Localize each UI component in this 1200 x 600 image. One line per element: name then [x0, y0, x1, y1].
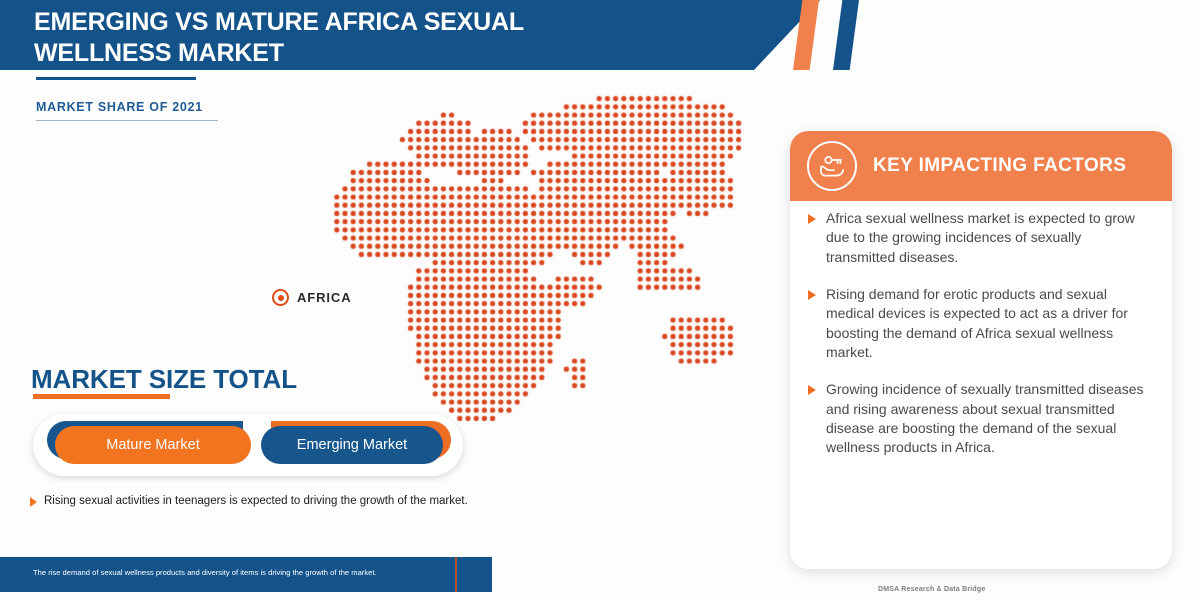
footer-text: The rise demand of sexual wellness produ…	[33, 568, 433, 578]
dotted-world-map	[300, 70, 770, 450]
market-size-note-text: Rising sexual activities in teenagers is…	[44, 493, 468, 510]
list-item-text: Africa sexual wellness market is expecte…	[826, 209, 1150, 267]
target-circle-icon	[272, 289, 289, 306]
header-stripe-blue	[833, 0, 859, 70]
market-share-label: MARKET SHARE OF 2021	[36, 100, 203, 114]
triangle-bullet-icon	[808, 385, 816, 395]
triangle-bullet-icon	[808, 290, 816, 300]
list-item: Growing incidence of sexually transmitte…	[808, 380, 1150, 457]
page-title: EMERGING VS MATURE AFRICA SEXUAL WELLNES…	[34, 7, 644, 68]
market-size-title: MARKET SIZE TOTAL	[31, 364, 297, 395]
segment-mature-label: Mature Market	[55, 426, 251, 464]
hand-holding-key-icon	[807, 141, 857, 191]
source-note: DMSA Research & Data Bridge	[878, 586, 985, 593]
target-circle-center	[278, 295, 284, 301]
infographic-root: EMERGING VS MATURE AFRICA SEXUAL WELLNES…	[0, 0, 1200, 600]
segment-emerging-label: Emerging Market	[261, 426, 443, 464]
market-share-rule-bottom	[36, 120, 218, 121]
market-size-pill-tray: Mature Market Emerging Market	[33, 414, 463, 476]
segment-emerging-market[interactable]: Emerging Market	[261, 426, 443, 464]
triangle-bullet-icon	[808, 214, 816, 224]
triangle-bullet-icon	[30, 497, 37, 507]
key-factors-header: KEY IMPACTING FACTORS	[790, 131, 1172, 201]
segment-mature-market[interactable]: Mature Market	[55, 426, 251, 464]
key-impacting-factors-panel: KEY IMPACTING FACTORS Africa sexual well…	[790, 131, 1172, 569]
market-share-rule-top	[36, 77, 196, 80]
list-item-text: Rising demand for erotic products and se…	[826, 285, 1150, 362]
market-size-underline	[33, 394, 170, 399]
key-factors-list: Africa sexual wellness market is expecte…	[790, 209, 1172, 475]
key-factors-title: KEY IMPACTING FACTORS	[873, 155, 1126, 177]
footer-divider	[455, 557, 457, 592]
africa-label: AFRICA	[297, 290, 352, 305]
list-item-text: Growing incidence of sexually transmitte…	[826, 380, 1150, 457]
africa-marker: AFRICA	[272, 289, 352, 306]
list-item: Rising demand for erotic products and se…	[808, 285, 1150, 362]
market-size-note: Rising sexual activities in teenagers is…	[30, 493, 500, 510]
list-item: Africa sexual wellness market is expecte…	[808, 209, 1150, 267]
